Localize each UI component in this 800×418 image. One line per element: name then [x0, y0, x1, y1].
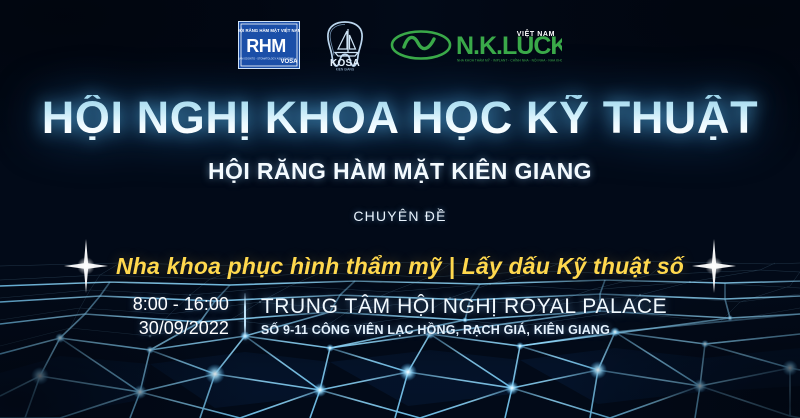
topic-row: Nha khoa phục hình thẩm mỹ | Lấy dấu Kỹ …	[0, 239, 800, 293]
rhm-brand: RHM	[246, 36, 286, 56]
event-date: 30/09/2022	[133, 316, 229, 340]
topic-text: Nha khoa phục hình thẩm mỹ | Lấy dấu Kỹ …	[116, 253, 684, 280]
event-banner: HỘI RĂNG HÀM MẶT VIỆT NAM RHM VIETNAM OD…	[0, 0, 800, 418]
nkluck-tagline: NHA KHOA THẨM MỸ - IMPLANT - CHỈNH NHA -…	[457, 58, 562, 63]
nkluck-brand: N.K.LUCK	[456, 32, 562, 60]
page-title: HỘI NGHỊ KHOA HỌC KỸ THUẬT	[0, 95, 800, 140]
kosa-sub-text: KIEN GIANG	[336, 68, 355, 72]
rhm-top-text: HỘI RĂNG HÀM MẶT VIỆT NAM	[238, 28, 300, 33]
venue-name: TRUNG TÂM HỘI NGHỊ ROYAL PALACE	[261, 295, 667, 319]
sponsor-logo-row: HỘI RĂNG HÀM MẶT VIỆT NAM RHM VIETNAM OD…	[0, 14, 800, 76]
rhm-logo: HỘI RĂNG HÀM MẶT VIỆT NAM RHM VIETNAM OD…	[238, 21, 300, 69]
venue-address: SỐ 9-11 CÔNG VIÊN LẠC HỒNG, RẠCH GIÁ, KI…	[261, 323, 667, 337]
topic-label: CHUYÊN ĐỀ	[0, 208, 800, 224]
rhm-badge-text: VOSA	[280, 59, 298, 65]
sparkle-left-icon	[64, 239, 108, 293]
nkluck-logo: VIỆT NAM N.K.LUCK NHA KHOA THẨM MỸ - IMP…	[390, 25, 562, 65]
event-details: 8:00 - 16:00 30/09/2022 TRUNG TÂM HỘI NG…	[0, 292, 800, 341]
event-datetime: 8:00 - 16:00 30/09/2022	[133, 292, 244, 341]
event-time: 8:00 - 16:00	[133, 292, 229, 316]
kosa-logo: KOSA KIEN GIANG	[322, 18, 368, 72]
event-location: TRUNG TÂM HỘI NGHỊ ROYAL PALACE SỐ 9-11 …	[246, 295, 667, 337]
sparkle-right-icon	[692, 239, 736, 293]
organization-subtitle: HỘI RĂNG HÀM MẶT KIÊN GIANG	[0, 158, 800, 185]
